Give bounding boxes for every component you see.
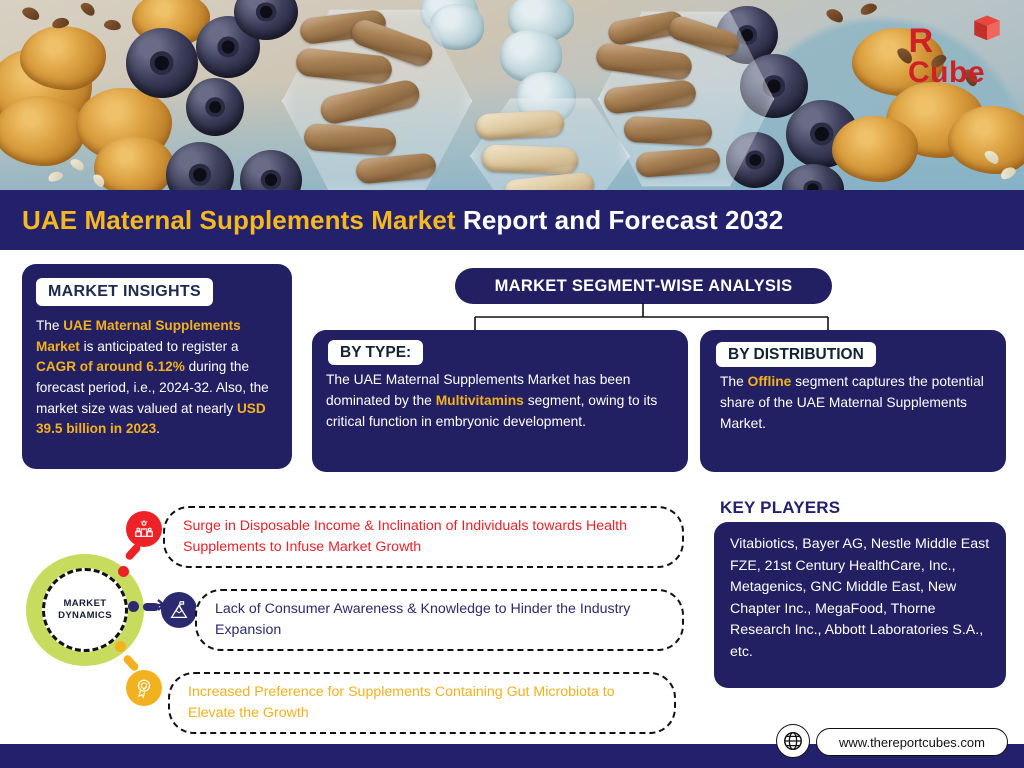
dynamics-item-1: Lack of Consumer Awareness & Knowledge t… xyxy=(195,589,684,651)
market-dynamics-center: MARKET DYNAMICS xyxy=(42,568,128,652)
page-title-highlight: UAE Maternal Supplements Market xyxy=(22,205,456,235)
logo-word: Cube xyxy=(908,56,985,89)
body-text: is anticipated to register a xyxy=(80,339,239,354)
key-players-list: Vitabiotics, Bayer AG, Nestle Middle Eas… xyxy=(730,534,992,663)
market-insights-label: MARKET INSIGHTS xyxy=(36,278,213,306)
capsule xyxy=(482,144,579,174)
title-bar: UAE Maternal Supplements Market Report a… xyxy=(0,190,1024,250)
mountain-flag-icon xyxy=(161,592,197,628)
globe-icon[interactable] xyxy=(776,724,810,758)
walnut xyxy=(0,96,86,166)
by-type-label: BY TYPE: xyxy=(328,340,423,365)
by-distribution-label: BY DISTRIBUTION xyxy=(716,342,876,367)
market-dynamics-line2: DYNAMICS xyxy=(58,610,112,622)
blueberry xyxy=(126,28,198,98)
market-dynamics-line1: MARKET xyxy=(63,598,106,610)
by-distribution-body: The Offline segment captures the potenti… xyxy=(720,372,998,435)
people-growth-icon xyxy=(126,511,162,547)
dynamics-item-0: Surge in Disposable Income & Inclination… xyxy=(163,506,684,568)
body-text: The xyxy=(720,374,748,389)
page-title: UAE Maternal Supplements Market Report a… xyxy=(22,205,783,236)
award-ribbon-icon xyxy=(126,670,162,706)
key-players-title: KEY PLAYERS xyxy=(720,498,840,518)
cube-icon xyxy=(972,14,1002,44)
highlight-text: Offline xyxy=(748,374,792,389)
by-type-body: The UAE Maternal Supplements Market has … xyxy=(326,370,676,433)
segment-analysis-header: MARKET SEGMENT-WISE ANALYSIS xyxy=(455,268,832,304)
blueberry xyxy=(186,78,244,136)
hero-image: ЯCube xyxy=(0,0,1024,190)
dynamics-item-2: Increased Preference for Supplements Con… xyxy=(168,672,676,734)
highlight-text: Multivitamins xyxy=(436,393,524,408)
highlight-text: CAGR of around 6.12% xyxy=(36,359,185,374)
dynamics-node-dot-2 xyxy=(115,641,126,652)
logo-mark-icon: Я xyxy=(908,24,933,58)
capsule xyxy=(475,110,564,141)
body-text: The xyxy=(36,318,63,333)
walnut xyxy=(94,136,174,190)
brand-logo[interactable]: ЯCube xyxy=(898,10,1006,68)
walnut xyxy=(20,26,106,90)
dynamics-node-dot-0 xyxy=(118,566,129,577)
body-text: . xyxy=(156,421,160,436)
dynamics-node-dot-1 xyxy=(128,601,139,612)
walnut xyxy=(832,116,918,182)
page-title-rest: Report and Forecast 2032 xyxy=(456,205,784,235)
capsule xyxy=(623,116,712,147)
market-insights-body: The UAE Maternal Supplements Market is a… xyxy=(36,316,280,440)
website-url[interactable]: www.thereportcubes.com xyxy=(816,728,1008,756)
